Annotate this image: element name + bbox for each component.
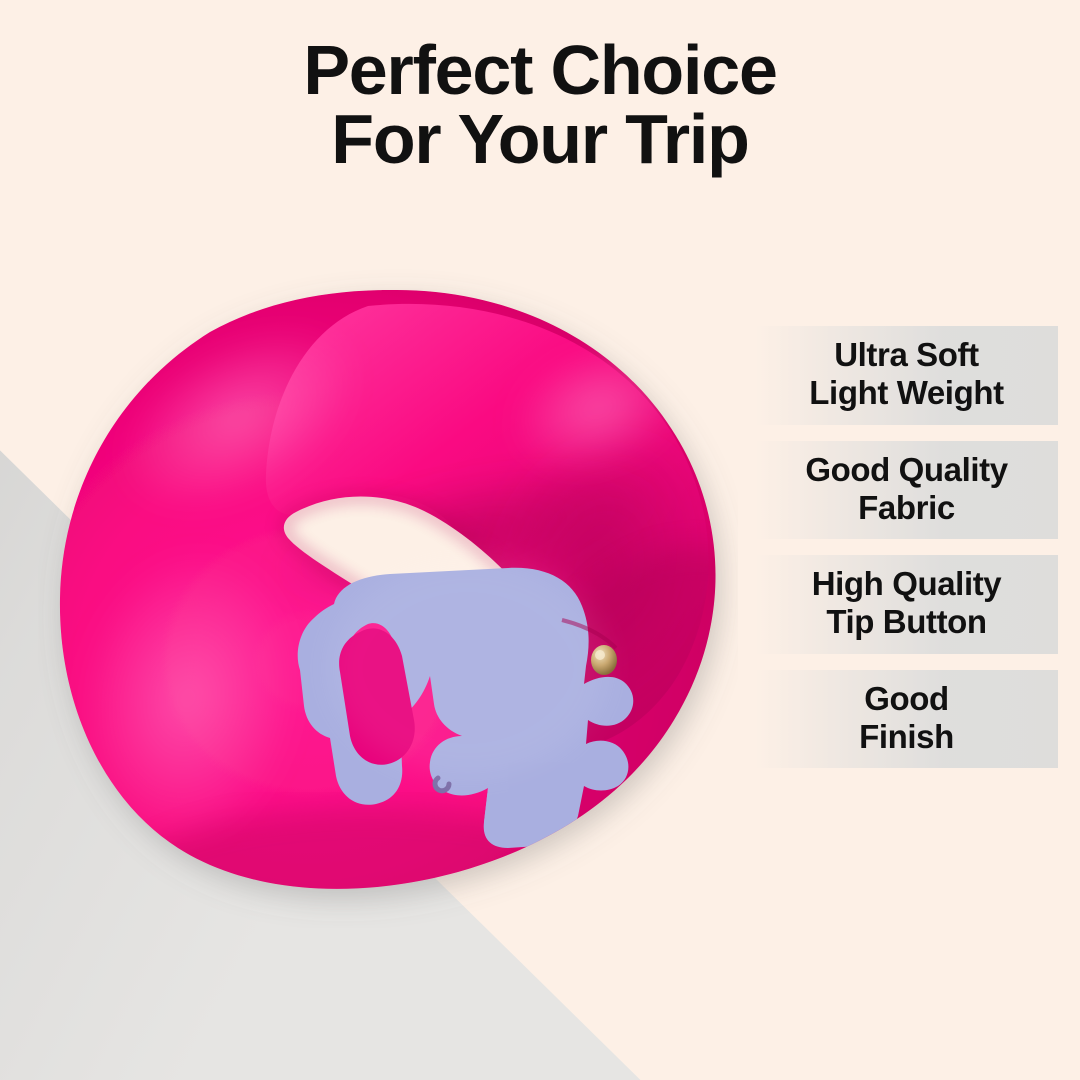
page-title: Perfect Choice For Your Trip	[0, 36, 1080, 175]
feature-item-good-quality-fabric: Good Quality Fabric	[755, 441, 1058, 540]
product-promo-image: Perfect Choice For Your Trip	[0, 0, 1080, 1080]
tip-button	[591, 645, 617, 675]
feature-line-1: Ultra Soft	[761, 336, 1052, 374]
feature-line-1: High Quality	[761, 565, 1052, 603]
feature-line-2: Tip Button	[761, 603, 1052, 641]
feature-line-1: Good	[761, 680, 1052, 718]
headline-line-2: For Your Trip	[0, 105, 1080, 174]
feature-item-high-quality-tip-button: High Quality Tip Button	[755, 555, 1058, 654]
feature-item-ultra-soft: Ultra Soft Light Weight	[755, 326, 1058, 425]
feature-line-2: Fabric	[761, 489, 1052, 527]
headline-line-1: Perfect Choice	[303, 31, 776, 109]
feature-line-1: Good Quality	[761, 451, 1052, 489]
feature-list: Ultra Soft Light Weight Good Quality Fab…	[755, 326, 1058, 768]
feature-item-good-finish: Good Finish	[755, 670, 1058, 769]
feature-line-2: Finish	[761, 718, 1052, 756]
feature-line-2: Light Weight	[761, 374, 1052, 412]
product-image	[38, 268, 738, 928]
